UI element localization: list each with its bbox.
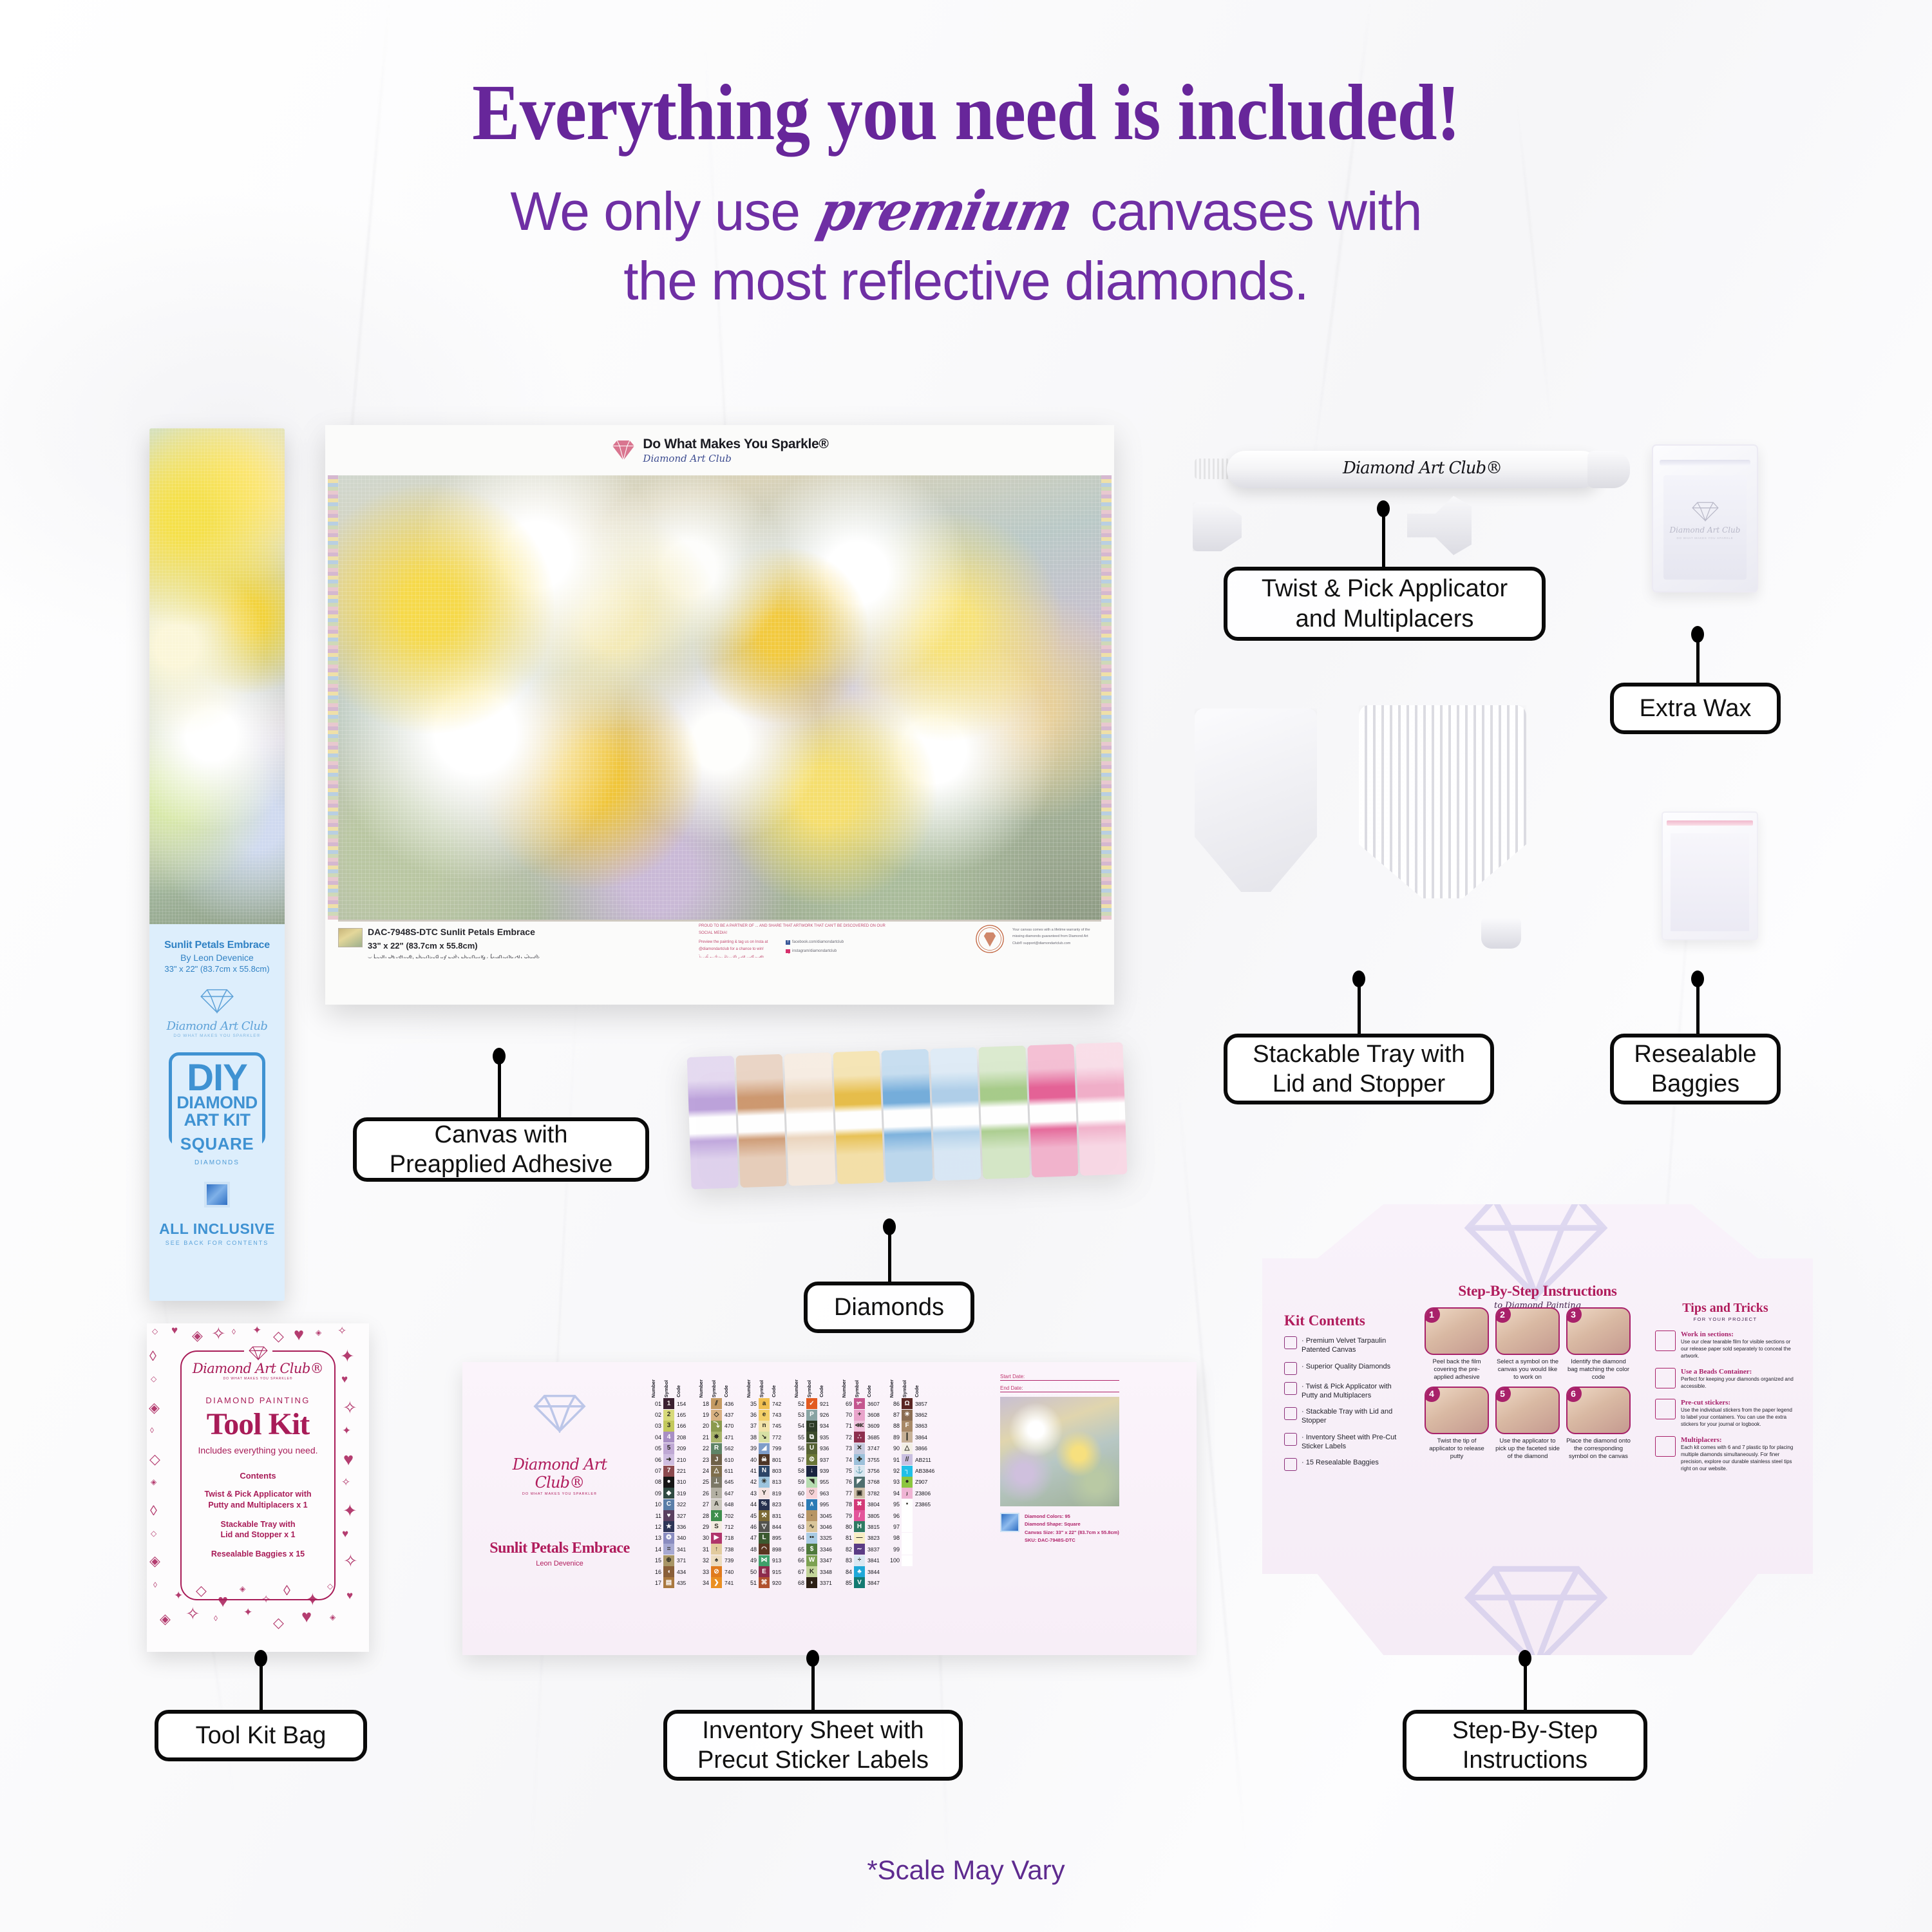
legend-number: 69 (841, 1401, 854, 1407)
legend-symbol-swatch: P (806, 1410, 817, 1421)
legend-symbol-swatch: V (854, 1577, 865, 1588)
legend-symbol-swatch (902, 1544, 913, 1555)
callout-label-extra-wax[interactable]: Extra Wax (1610, 683, 1781, 734)
canvas-social-facebook: facebook.com/diamondartclub (792, 939, 844, 946)
legend-number: 07 (650, 1468, 663, 1474)
legend-symbol-swatch: △ (902, 1443, 913, 1454)
kit-item-icon (1284, 1382, 1297, 1395)
legend-number: 98 (889, 1535, 902, 1541)
legend-code: 310 (674, 1479, 692, 1485)
stackable-tray (1195, 708, 1317, 892)
legend-number: 48 (746, 1546, 759, 1553)
callout-dot (254, 1650, 267, 1667)
legend-code: 3609 (865, 1423, 883, 1429)
legend-symbol-swatch: ↘ (759, 1432, 770, 1443)
legend-number: 17 (650, 1580, 663, 1586)
legend-row: 43Y819 (746, 1488, 788, 1499)
legend-row: 55⧉935 (793, 1432, 836, 1443)
callout-label-tray[interactable]: Stackable Tray withLid and Stopper (1224, 1034, 1494, 1104)
legend-code: 648 (722, 1501, 740, 1508)
legend-column: NumberSymbolCode35a74236e74337n74538↘772… (746, 1371, 788, 1589)
legend-number: 35 (746, 1401, 759, 1407)
canvas-color-rail-right (1101, 475, 1112, 920)
legend-number: 36 (746, 1412, 759, 1418)
diamond-bag (735, 1054, 787, 1188)
legend-code: 937 (817, 1457, 835, 1463)
legend-number: 18 (698, 1401, 711, 1407)
legend-code: 895 (770, 1535, 788, 1541)
legend-row: 18⫽436 (698, 1398, 741, 1409)
legend-code: 3862 (913, 1412, 931, 1418)
color-legend-table: NumberSymbolCode011154022165033166044208… (650, 1371, 936, 1589)
legend-code: 3837 (865, 1546, 883, 1553)
tool-kit-item-line: Resealable Baggies x 15 (147, 1549, 369, 1560)
legend-symbol-swatch: ▣ (854, 1488, 865, 1499)
legend-row: 20⤵470 (698, 1421, 741, 1432)
legend-row: 76◤3768 (841, 1477, 884, 1488)
legend-code: 739 (722, 1557, 740, 1564)
legend-code: Z3865 (913, 1501, 931, 1508)
legend-code: 209 (674, 1445, 692, 1452)
legend-row: 022165 (650, 1409, 693, 1420)
legend-symbol-swatch (902, 1510, 913, 1521)
legend-number: 82 (841, 1546, 854, 1553)
tool-kit-bag: ◇♥◈✧◊✦◇♥◈✧◊✦◇♥◈✧◊✦◇♥◈✧◊✦◇♥◈✧◊✦◇♥◈✧◊✦◇♥◈✧… (147, 1323, 369, 1652)
legend-row: 53P926 (793, 1409, 836, 1420)
legend-number: 76 (841, 1479, 854, 1485)
legend-code: 436 (722, 1401, 740, 1407)
legend-row: 94ⱼZ3806 (889, 1488, 931, 1499)
legend-row: 65$3346 (793, 1544, 836, 1555)
step-by-step-instruction-sheet: Step-By-Step Instructions to Diamond Pai… (1262, 1204, 1813, 1655)
decorative-gem-icon: ♥ (346, 1590, 353, 1601)
legend-code: 915 (770, 1569, 788, 1575)
legend-symbol-swatch: $ (806, 1544, 817, 1555)
legend-symbol-swatch: ⌘ (759, 1577, 770, 1588)
pouch-zipper (1660, 460, 1750, 466)
baggie-zipper (1667, 820, 1753, 826)
legend-symbol-swatch: ★ (663, 1521, 674, 1532)
legend-row: 52✓921 (793, 1398, 836, 1409)
legend-code: 3045 (817, 1513, 835, 1519)
tool-kit-item-line: Lid and Stopper x 1 (147, 1529, 369, 1540)
tip-heading: Use a Beads Container: (1681, 1368, 1795, 1376)
legend-code: 3755 (865, 1457, 883, 1463)
legend-row: 26⨟647 (698, 1488, 741, 1499)
legend-header-code: Code (819, 1385, 836, 1397)
meta-shape: Diamond Shape: Square (1025, 1520, 1119, 1528)
tool-kit-item-line: Twist & Pick Applicator with (147, 1489, 369, 1500)
legend-number: 01 (650, 1401, 663, 1407)
legend-number: 44 (746, 1501, 759, 1508)
tip-item: Use a Beads Container:Perfect for keepin… (1655, 1368, 1795, 1390)
decorative-gem-icon: ♥ (171, 1325, 178, 1336)
diy-line2: DIAMOND (175, 1094, 260, 1112)
callout-label-diamonds[interactable]: Diamonds (804, 1282, 974, 1333)
tool-kit-title: Tool Kit (147, 1406, 369, 1442)
legend-code: 3348 (817, 1569, 835, 1575)
legend-row: 46▽844 (746, 1521, 788, 1532)
legend-symbol-swatch: L (759, 1533, 770, 1544)
decorative-gem-icon: ✧ (185, 1605, 200, 1623)
legend-symbol-swatch: 1 (663, 1398, 674, 1409)
legend-row: 69✃3607 (841, 1398, 884, 1409)
legend-number: 92 (889, 1468, 902, 1474)
legend-column: NumberSymbolCode011154022165033166044208… (650, 1371, 693, 1589)
legend-code: 823 (770, 1501, 788, 1508)
legend-number: 20 (698, 1423, 711, 1429)
legend-symbol-swatch: ☀ (902, 1410, 913, 1421)
legend-row: 72∴3685 (841, 1432, 884, 1443)
legend-code: 831 (770, 1513, 788, 1519)
legend-row: 78✖3804 (841, 1499, 884, 1510)
callout-label-instructions[interactable]: Step-By-StepInstructions (1403, 1710, 1647, 1781)
legend-symbol-swatch: ◗ (806, 1577, 817, 1588)
legend-symbol-swatch: R (711, 1443, 722, 1454)
callout-dot (806, 1650, 819, 1667)
legend-number: 05 (650, 1445, 663, 1452)
end-date-field[interactable]: End Date: (1000, 1385, 1119, 1392)
legend-code: 3782 (865, 1490, 883, 1497)
diamond-bag (930, 1047, 981, 1180)
legend-number: 38 (746, 1434, 759, 1441)
callout-label-text: Extra Wax (1640, 694, 1752, 723)
legend-symbol-swatch: N (759, 1466, 770, 1477)
legend-code: 3847 (865, 1580, 883, 1586)
legend-symbol-swatch: ✓ (806, 1398, 817, 1409)
kit-item-label: · Twist & Pick Applicator with Putty and… (1302, 1382, 1408, 1401)
legend-symbol-swatch: ◠ (759, 1544, 770, 1555)
legend-code: 799 (770, 1445, 788, 1452)
step-number: 5 (1495, 1387, 1511, 1402)
legend-row: 85V3847 (841, 1577, 884, 1588)
callout-label-text: Diamonds (834, 1293, 944, 1322)
legend-column: NumberSymbolCode52✓92153P92654□93455⧉935… (793, 1371, 836, 1589)
legend-symbol-swatch: ÷ (854, 1555, 865, 1566)
legend-row: 97 (889, 1521, 931, 1532)
callout-dot (493, 1048, 506, 1065)
legend-number: 60 (793, 1490, 806, 1497)
legend-symbol-swatch: X (711, 1510, 722, 1521)
legend-number: 99 (889, 1546, 902, 1553)
legend-symbol-swatch: J (711, 1454, 722, 1465)
callout-dot (883, 1218, 896, 1235)
package-artist: By Leon Devenice (156, 952, 278, 963)
extra-wax-pouch: Diamond Art Club DO WHAT MAKES YOU SPARK… (1652, 444, 1758, 592)
legend-code: 166 (674, 1423, 692, 1429)
callout-dot (1691, 626, 1704, 643)
diamond-icon (198, 988, 236, 1014)
legend-symbol-swatch: ◆ (663, 1488, 674, 1499)
step-number: 1 (1425, 1307, 1440, 1323)
callout-label-applicator[interactable]: Twist & Pick Applicatorand Multiplacers (1224, 567, 1546, 641)
legend-number: 45 (746, 1513, 759, 1519)
legend-code: 742 (770, 1401, 788, 1407)
legend-code: 3347 (817, 1557, 835, 1564)
tip-body: Perfect for keeping your diamonds organi… (1681, 1376, 1795, 1390)
canvas-promo-line1: Preview the painting & tag us on Insta a… (699, 939, 779, 946)
legend-code: 743 (770, 1412, 788, 1418)
canvas-sku-title: DAC-7948S-DTC Sunlit Petals Embrace (368, 925, 540, 940)
legend-symbol-swatch: ❂ (663, 1533, 674, 1544)
legend-symbol-swatch: ❯ (711, 1577, 722, 1588)
diy-badge: DIY DIAMOND ART KIT SQUARE (169, 1052, 265, 1146)
legend-header-code: Code (676, 1385, 693, 1397)
legend-symbol-swatch: H (854, 1521, 865, 1532)
legend-row: 16◖434 (650, 1566, 693, 1577)
multiplacer-tip-left (1193, 502, 1242, 551)
square-badge: SQUARE (172, 1134, 262, 1154)
legend-code: 819 (770, 1490, 788, 1497)
legend-code: 741 (722, 1580, 740, 1586)
legend-symbol-swatch: U (806, 1443, 817, 1454)
legend-code: 210 (674, 1457, 692, 1463)
canvas-thumbnail (338, 928, 363, 947)
kit-contents-item: · Inventory Sheet with Pre-Cut Sticker L… (1284, 1433, 1408, 1452)
legend-number: 10 (650, 1501, 663, 1508)
kit-item-label: · 15 Resealable Baggies (1302, 1458, 1379, 1467)
legend-code: 920 (770, 1580, 788, 1586)
step-number: 6 (1566, 1387, 1582, 1402)
legend-symbol-swatch: C (663, 1499, 674, 1510)
legend-code: 437 (722, 1412, 740, 1418)
decorative-gem-icon: ✦ (243, 1607, 252, 1618)
inventory-brand-tagline: DO WHAT MAKES YOU SPARKLE® (486, 1492, 634, 1496)
legend-number: 100 (889, 1557, 902, 1564)
package-label: Sunlit Petals Embrace By Leon Devenice 3… (149, 924, 285, 1301)
legend-row: 044208 (650, 1432, 693, 1443)
decorative-gem-icon: ✦ (174, 1590, 183, 1601)
decorative-gem-icon: ✦ (252, 1325, 261, 1336)
tool-kit-contents-heading: Contents (147, 1471, 369, 1481)
instructions-title: Step-By-Step Instructions (1262, 1283, 1813, 1300)
baggie-body (1671, 833, 1749, 931)
legend-code: 3805 (865, 1513, 883, 1519)
legend-symbol-swatch: + (854, 1410, 865, 1421)
legend-number: 97 (889, 1524, 902, 1530)
legend-row: 64••3325 (793, 1533, 836, 1544)
legend-symbol-swatch: 5 (663, 1443, 674, 1454)
headline-block: Everything you need is included! We only… (0, 71, 1932, 316)
legend-code: Z3806 (913, 1490, 931, 1497)
legend-row: 90△3866 (889, 1443, 931, 1454)
legend-number: 65 (793, 1546, 806, 1553)
legend-symbol-swatch: ♠ (711, 1555, 722, 1566)
tool-kit-brand-tagline: DO WHAT MAKES YOU SPARKLE® (147, 1377, 369, 1381)
legend-number: 56 (793, 1445, 806, 1452)
legend-header-code: Code (914, 1385, 931, 1397)
legend-number: 70 (841, 1412, 854, 1418)
diamond-bag (979, 1046, 1030, 1179)
legend-symbol-swatch: ◇ (711, 1410, 722, 1421)
legend-row: 93●Z907 (889, 1477, 931, 1488)
legend-code: 702 (722, 1513, 740, 1519)
legend-code: 322 (674, 1501, 692, 1508)
legend-row: 100 (889, 1555, 931, 1566)
legend-code: 341 (674, 1546, 692, 1553)
tool-kit-item: Resealable Baggies x 15 (147, 1549, 369, 1560)
tips-block: Tips and Tricks FOR YOUR PROJECT Work in… (1655, 1301, 1795, 1473)
callout-label-toolkit[interactable]: Tool Kit Bag (155, 1710, 367, 1761)
legend-symbol-swatch: ◤ (854, 1477, 865, 1488)
legend-row: 61∧995 (793, 1499, 836, 1510)
inventory-brand: Diamond Art Club® (486, 1455, 634, 1492)
diamond-bag (882, 1049, 933, 1182)
legend-symbol-swatch: ◥ (806, 1477, 817, 1488)
diamond-bag (687, 1056, 739, 1189)
legend-header-code: Code (723, 1385, 741, 1397)
legend-row: 68◗3371 (793, 1577, 836, 1588)
diamond-icon (1690, 501, 1720, 522)
diamond-bag (1027, 1044, 1079, 1177)
legend-number: 43 (746, 1490, 759, 1497)
legend-number: 32 (698, 1557, 711, 1564)
legend-number: 39 (746, 1445, 759, 1452)
legend-number: 62 (793, 1513, 806, 1519)
square-subtext: DIAMONDS (156, 1159, 278, 1166)
callout-dot (1352, 971, 1365, 987)
legend-code: 3046 (817, 1524, 835, 1530)
step-photo: 1 (1425, 1307, 1489, 1355)
meta-size: Canvas Size: 33" x 22" (83.7cm x 55.8cm) (1025, 1529, 1119, 1537)
legend-code: 208 (674, 1434, 692, 1441)
legend-number: 24 (698, 1468, 711, 1474)
legend-header-symbol: Symbol (759, 1380, 771, 1397)
canvas-size: 33" x 22" (83.7cm x 55.8cm) (368, 940, 540, 952)
tool-kit-item-line: Putty and Multiplacers x 1 (147, 1500, 369, 1511)
legend-symbol-swatch: A (711, 1499, 722, 1510)
tool-kit-item-line: Stackable Tray with (147, 1519, 369, 1530)
legend-number: 96 (889, 1513, 902, 1519)
legend-symbol-swatch: Ω (902, 1398, 913, 1409)
canvas-header-brand: Diamond Art Club (643, 453, 828, 464)
decorative-gem-icon: ◈ (330, 1613, 336, 1621)
legend-code: 718 (722, 1535, 740, 1541)
step-caption: Identify the diamond bag matching the co… (1566, 1358, 1631, 1381)
legend-code: 340 (674, 1535, 692, 1541)
legend-code: 955 (817, 1479, 835, 1485)
legend-row: 27A648 (698, 1499, 741, 1510)
legend-row: 06➜210 (650, 1454, 693, 1465)
legend-row: 71⋘3609 (841, 1421, 884, 1432)
callout-dot (1377, 500, 1390, 517)
callout-label-text: Canvas withPreapplied Adhesive (390, 1120, 612, 1180)
legend-code: 645 (722, 1479, 740, 1485)
legend-header-symbol: Symbol (854, 1380, 866, 1397)
legend-symbol-swatch: ∴ (854, 1432, 865, 1443)
legend-symbol-swatch: ⋘ (854, 1421, 865, 1432)
legend-symbol-swatch: S (711, 1521, 722, 1532)
legend-row: 12★336 (650, 1521, 693, 1532)
legend-code: 740 (722, 1569, 740, 1575)
legend-symbol-swatch: ⊥ (711, 1477, 722, 1488)
legend-column: NumberSymbolCode69✃360770+360871⋘360972∴… (841, 1371, 884, 1589)
legend-row: 39◢799 (746, 1443, 788, 1454)
legend-row: 70+3608 (841, 1409, 884, 1420)
callout-label-baggies[interactable]: ResealableBaggies (1610, 1034, 1781, 1104)
legend-code: 995 (817, 1501, 835, 1508)
tip-icon (1655, 1436, 1676, 1457)
legend-number: 58 (793, 1468, 806, 1474)
legend-number: 77 (841, 1490, 854, 1497)
legend-symbol-swatch: = (663, 1544, 674, 1555)
tip-item: Multiplacers:Each kit comes with 6 and 7… (1655, 1436, 1795, 1472)
tool-kit-item: Twist & Pick Applicator with Putty and M… (147, 1489, 369, 1511)
legend-number: 31 (698, 1546, 711, 1553)
legend-number: 55 (793, 1434, 806, 1441)
canvas-promo-heading: PROUD TO BE A PARTNER OF ... AND SHARE T… (699, 923, 892, 938)
step-photo: 4 (1425, 1387, 1489, 1434)
canvas-promo-line2: @diamondartclub for a chance to win! (699, 946, 779, 953)
legend-row: 09◆319 (650, 1488, 693, 1499)
legend-code: 745 (770, 1423, 788, 1429)
step-number: 2 (1495, 1307, 1511, 1323)
legend-number: 06 (650, 1457, 663, 1463)
legend-number: 93 (889, 1479, 902, 1485)
legend-symbol-swatch (902, 1555, 913, 1566)
legend-row: 17▤435 (650, 1577, 693, 1588)
legend-symbol-swatch: ⋈ (759, 1555, 770, 1566)
kit-item-icon (1284, 1458, 1297, 1471)
legend-row: 40☠801 (746, 1454, 788, 1465)
callout-label-canvas[interactable]: Canvas withPreapplied Adhesive (353, 1117, 649, 1182)
kit-item-label: · Inventory Sheet with Pre-Cut Sticker L… (1302, 1433, 1408, 1452)
legend-row: 51⌘920 (746, 1577, 788, 1588)
callout-label-text: Twist & Pick Applicatorand Multiplacers (1262, 574, 1508, 634)
callout-label-inventory[interactable]: Inventory Sheet withPrecut Sticker Label… (663, 1710, 963, 1781)
legend-row: 62∙3045 (793, 1510, 836, 1521)
legend-row: 87☀3862 (889, 1409, 931, 1420)
tool-kit-brand: Diamond Art Club® (147, 1361, 369, 1376)
legend-symbol-swatch: ♥ (663, 1510, 674, 1521)
legend-number: 47 (746, 1535, 759, 1541)
tip-icon (1655, 1331, 1676, 1351)
step-caption: Use the applicator to pick up the facete… (1495, 1437, 1560, 1461)
legend-code: 803 (770, 1468, 788, 1474)
legend-number: 13 (650, 1535, 663, 1541)
legend-row: 37n745 (746, 1421, 788, 1432)
tip-body: Use the individual stickers from the pap… (1681, 1407, 1795, 1428)
product-package-box: Sunlit Petals Embrace By Leon Devenice 3… (149, 428, 285, 1301)
legend-number: 71 (841, 1423, 854, 1429)
legend-symbol-swatch: ⨟ (711, 1488, 722, 1499)
legend-row: 98 (889, 1533, 931, 1544)
legend-row: 50E915 (746, 1566, 788, 1577)
legend-number: 63 (793, 1524, 806, 1530)
tray-stopper (1481, 918, 1521, 949)
legend-header-code: Code (866, 1385, 884, 1397)
legend-row: 81—3823 (841, 1533, 884, 1544)
legend-symbol-swatch: ⤵ (711, 1421, 722, 1432)
legend-code: 3607 (865, 1401, 883, 1407)
legend-row: 66W3347 (793, 1555, 836, 1566)
decorative-gem-icon: ◈ (192, 1329, 203, 1343)
legend-row: 74✤3755 (841, 1454, 884, 1465)
legend-row: 48◠898 (746, 1544, 788, 1555)
legend-symbol-swatch: ⧉ (806, 1432, 817, 1443)
start-date-field[interactable]: Start Date: (1000, 1374, 1119, 1381)
kit-item-icon (1284, 1407, 1297, 1420)
step-caption: Place the diamond onto the corresponding… (1566, 1437, 1631, 1461)
step-photo: 6 (1566, 1387, 1631, 1434)
legend-row: 67K3348 (793, 1566, 836, 1577)
diamond-icon (531, 1393, 588, 1433)
legend-symbol-swatch: 4 (663, 1432, 674, 1443)
legend-code: 3844 (865, 1569, 883, 1575)
legend-symbol-swatch: ↑ (711, 1544, 722, 1555)
all-inclusive-text: ALL INCLUSIVE (156, 1220, 278, 1238)
inventory-side-panel: Start Date: End Date: Diamond Colors: 95… (1000, 1374, 1119, 1545)
